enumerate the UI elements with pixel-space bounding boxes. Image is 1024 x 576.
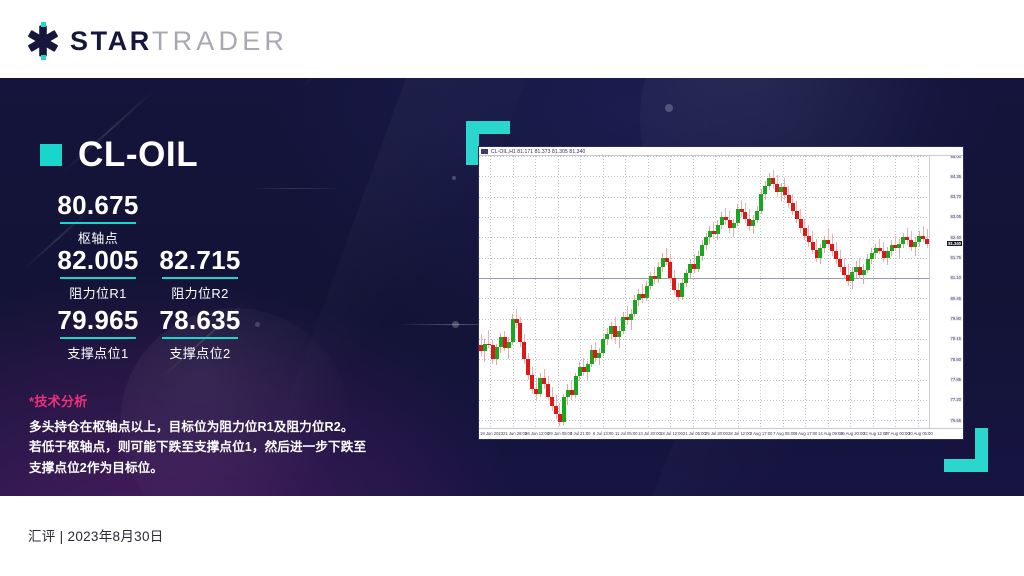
time-tick-label: 27 Aug 00:00 [885,431,910,436]
time-tick-label: 11 Jul 05:00 [615,431,638,436]
time-tick-label: 21 Jun 28:00 [503,431,527,436]
level-support2: 78.635 支撑点位2 [135,306,265,362]
brand-wordmark: STAR TRADER [70,26,288,57]
page-header: STAR TRADER [0,0,1024,78]
price-tick-label: 77.20 [950,397,962,402]
price-tick-label: 81.10 [950,275,962,280]
level-underline [60,277,136,279]
chart-price-axis: 85.0084.3583.7083.0582.4081.7581.1080.45… [929,156,963,428]
level-underline [162,277,238,279]
price-tick-label: 79.80 [950,316,962,321]
level-support2-label: 支撑点位2 [135,343,265,362]
level-underline [162,337,238,339]
decor-dot [665,104,673,112]
price-tick-label: 84.35 [950,174,962,179]
time-tick-label: 22 Aug 12:00 [863,431,888,436]
time-tick-label: 13 Jul 20:00 [638,431,661,436]
instrument-title: CL-OIL [40,135,198,175]
chart-time-axis: 19 Jun 202321 Jun 28:0026 Jun 12:0029 Ju… [479,428,963,439]
time-tick-label: 16 Aug 20:00 [840,431,865,436]
analysis-heading: *技术分析 [29,391,399,410]
price-tick-label: 79.15 [950,336,962,341]
analysis-body: 多头持仓在枢轴点以上，目标位为阻力位R1及阻力位R2。 若低于枢轴点，则可能下跌… [29,417,399,478]
time-tick-label: 6 Jul 13:00 [593,431,614,436]
chart-titlebar: CL-OIL,H1 81.171 81.373 81.305 81.340 [479,147,963,156]
page-footer: 汇评 | 2023年8月30日 [0,496,1024,576]
logo-pip-top [41,22,46,27]
technical-analysis-block: *技术分析 多头持仓在枢轴点以上，目标位为阻力位R1及阻力位R2。 若低于枢轴点… [29,391,399,478]
logo-pip-bottom [41,55,46,60]
chart-window-icon [481,149,488,154]
price-tick-label: 77.85 [950,377,962,382]
analysis-line-2: 若低于枢轴点，则可能下跌至支撑点位1，然后进一步下跌至 [29,437,399,457]
chart-canvas[interactable]: 85.0084.3583.7083.0582.4081.7581.1080.45… [479,156,963,439]
brand-name-bold: STAR [70,26,152,57]
price-tick-label: 80.45 [950,296,962,301]
price-tick-label: 78.50 [950,357,962,362]
time-tick-label: 21 Jul 05:00 [683,431,706,436]
level-pivot: 80.675 枢轴点 [33,191,163,247]
hero-stage: CL-OIL 80.675 枢轴点 82.005 阻力位R1 82.715 阻力… [0,78,1024,496]
decor-hairline [250,188,340,189]
level-pivot-value: 80.675 [33,191,163,219]
brand-name-light: TRADER [152,26,288,57]
current-price-label: 81.340 [947,241,962,246]
time-tick-label: 19 Jun 2023 [480,431,503,436]
level-support2-value: 78.635 [135,306,265,334]
time-tick-label: 26 Jun 12:00 [525,431,549,436]
square-bullet-icon [40,144,62,166]
time-tick-label: 30 Aug 05:00 [908,431,933,436]
time-tick-label: 28 Jul 12:00 [728,431,751,436]
price-tick-label: 83.05 [950,214,962,219]
time-tick-label: 9 Aug 17:00 [795,431,817,436]
time-tick-label: 18 Jul 12:00 [660,431,683,436]
level-resistance2-label: 阻力位R2 [135,283,265,302]
decor-dot [452,176,456,180]
price-tick-label: 76.55 [950,418,962,423]
brand-logo[interactable]: STAR TRADER [26,24,288,58]
price-tick-label: 83.70 [950,194,962,199]
level-underline [60,337,136,339]
time-tick-label: 14 Aug 09:00 [818,431,843,436]
star-asterisk-glyph [26,24,60,58]
price-tick-label: 82.40 [950,235,962,240]
level-resistance2-value: 82.715 [135,246,265,274]
footer-caption: 汇评 | 2023年8月30日 [28,525,164,545]
price-tick-label: 81.75 [950,255,962,260]
time-tick-label: 25 Jul 20:00 [705,431,728,436]
time-tick-label: 7 Aug 05:00 [773,431,795,436]
star-asterisk-icon [26,24,60,58]
instrument-symbol: CL-OIL [78,135,198,175]
chart-window[interactable]: CL-OIL,H1 81.171 81.373 81.305 81.340 85… [478,146,964,440]
chart-title-text: CL-OIL,H1 81.171 81.373 81.305 81.340 [491,148,585,154]
time-tick-label: 2 Aug 17:00 [750,431,772,436]
time-tick-label: 3 Jul 21:00 [570,431,591,436]
analysis-line-1: 多头持仓在枢轴点以上，目标位为阻力位R1及阻力位R2。 [29,417,399,437]
analysis-line-3: 支撑点位2作为目标位。 [29,458,399,478]
level-underline [60,222,136,224]
candlestick-series [479,156,929,428]
level-resistance2: 82.715 阻力位R2 [135,246,265,302]
price-tick-label: 85.00 [950,156,962,159]
time-tick-label: 29 Jun 05:00 [548,431,572,436]
chart-plot-area [479,156,929,428]
